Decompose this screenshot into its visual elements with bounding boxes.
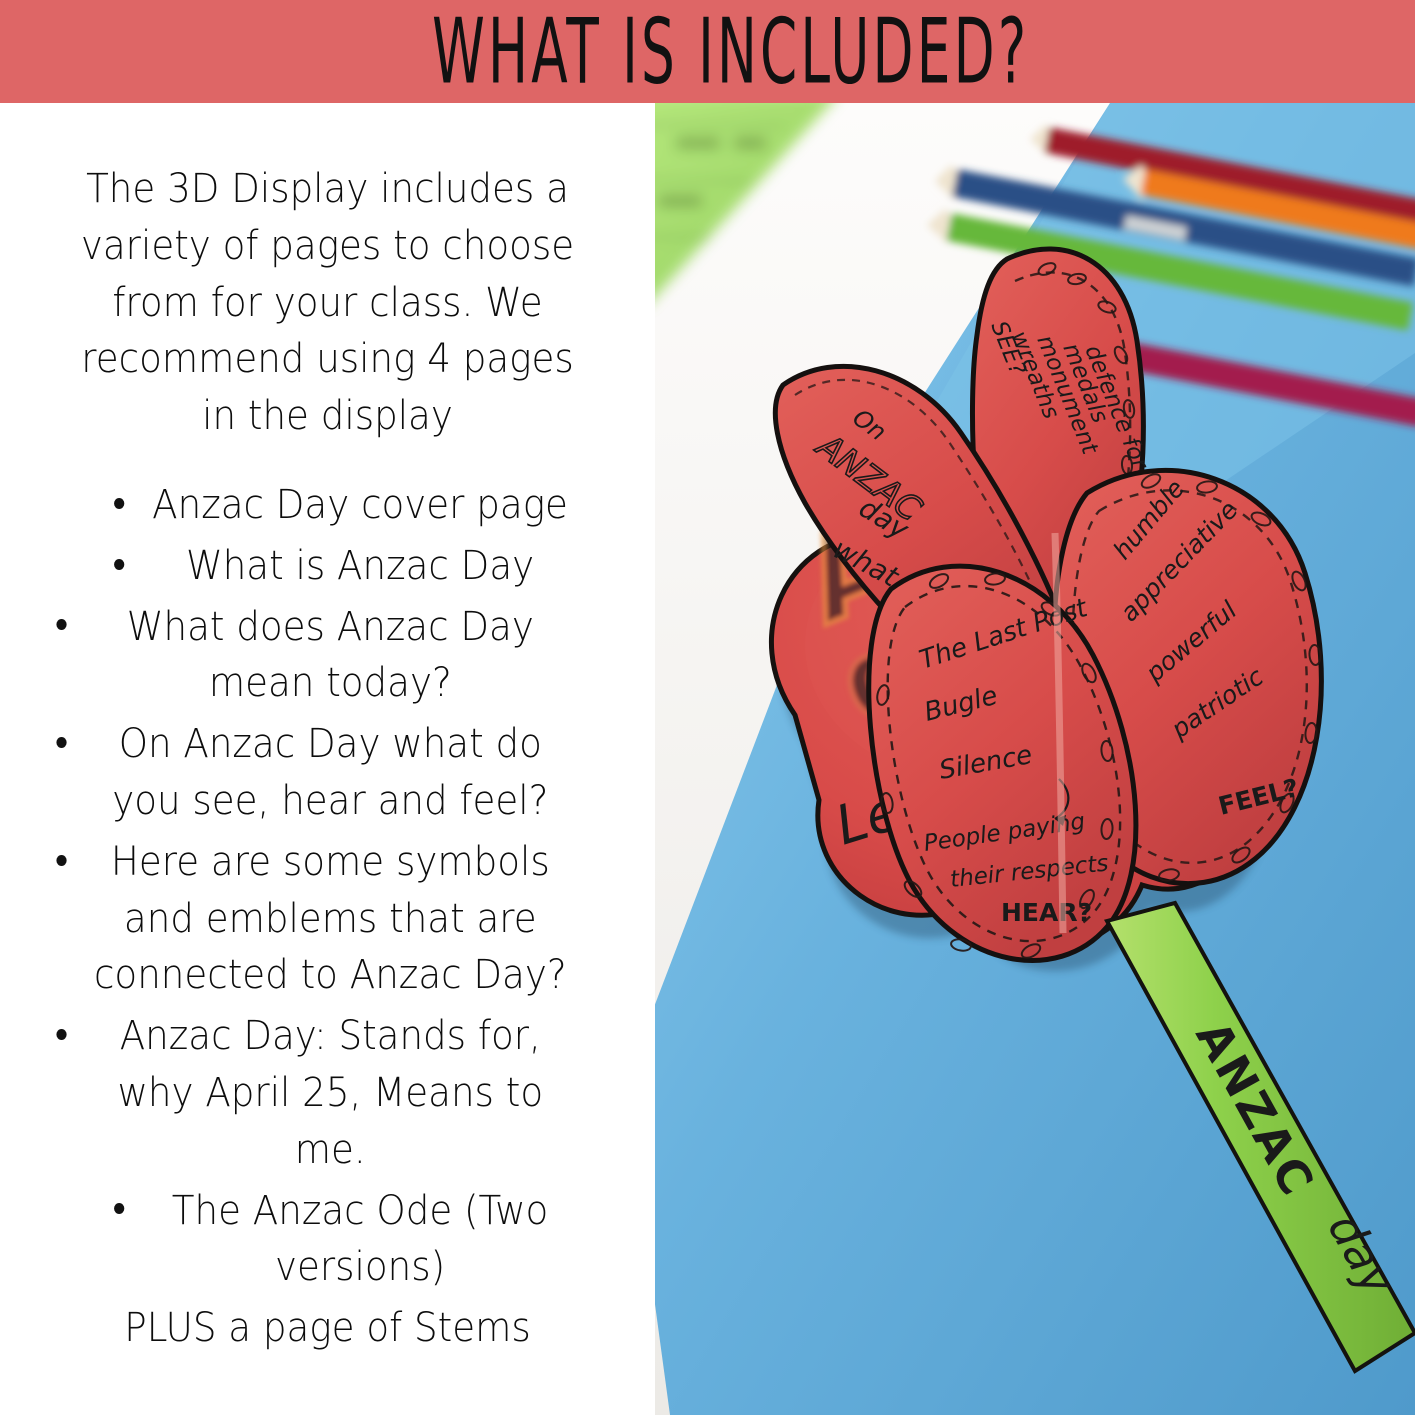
bullet-dot-icon [114,498,124,509]
list-item: On Anzac Day what do you see, hear and f… [43,716,611,830]
bullet-dot-icon [56,1029,66,1040]
list-item-label: On Anzac Day what do you see, hear and f… [112,721,548,824]
list-item-label: Here are some symbols and emblems that a… [94,839,567,999]
list-item-label: Anzac Day cover page [152,482,568,528]
bullet-dot-icon [114,1203,124,1214]
petal-text-line: HEAR? [1001,898,1092,927]
bullet-dot-icon [56,737,66,748]
list-item: What is Anzac Day [43,538,611,595]
list-item: What does Anzac Day mean today? [43,599,611,713]
list-item: Here are some symbols and emblems that a… [43,834,611,1004]
slide-root: WHAT IS INCLUDED? The 3D Display include… [0,0,1415,1415]
list-item: The Anzac Ode (Two versions) [43,1183,611,1297]
intro-paragraph: The 3D Display includes a variety of pag… [43,161,611,445]
list-item-label: What does Anzac Day mean today? [127,604,534,707]
bullet-dot-icon [56,619,66,630]
list-item-label: The Anzac Ode (Two versions) [172,1188,549,1291]
bullet-dot-icon [56,855,66,866]
list-item: Anzac Day: Stands for, why April 25, Mea… [43,1008,611,1178]
footer-line: PLUS a page of Stems [43,1300,611,1357]
header-banner: WHAT IS INCLUDED? [0,0,1415,103]
content-column: The 3D Display includes a variety of pag… [0,103,655,1415]
bullet-dot-icon [114,559,124,570]
product-photo: A d Lest [655,103,1415,1415]
list-item-label: What is Anzac Day [186,543,534,589]
included-list: Anzac Day cover page What is Anzac Day W… [22,477,633,1296]
page-title: WHAT IS INCLUDED? [142,0,1274,114]
list-item: Anzac Day cover page [43,477,611,534]
list-item-label: Anzac Day: Stands for, why April 25, Mea… [117,1013,543,1173]
